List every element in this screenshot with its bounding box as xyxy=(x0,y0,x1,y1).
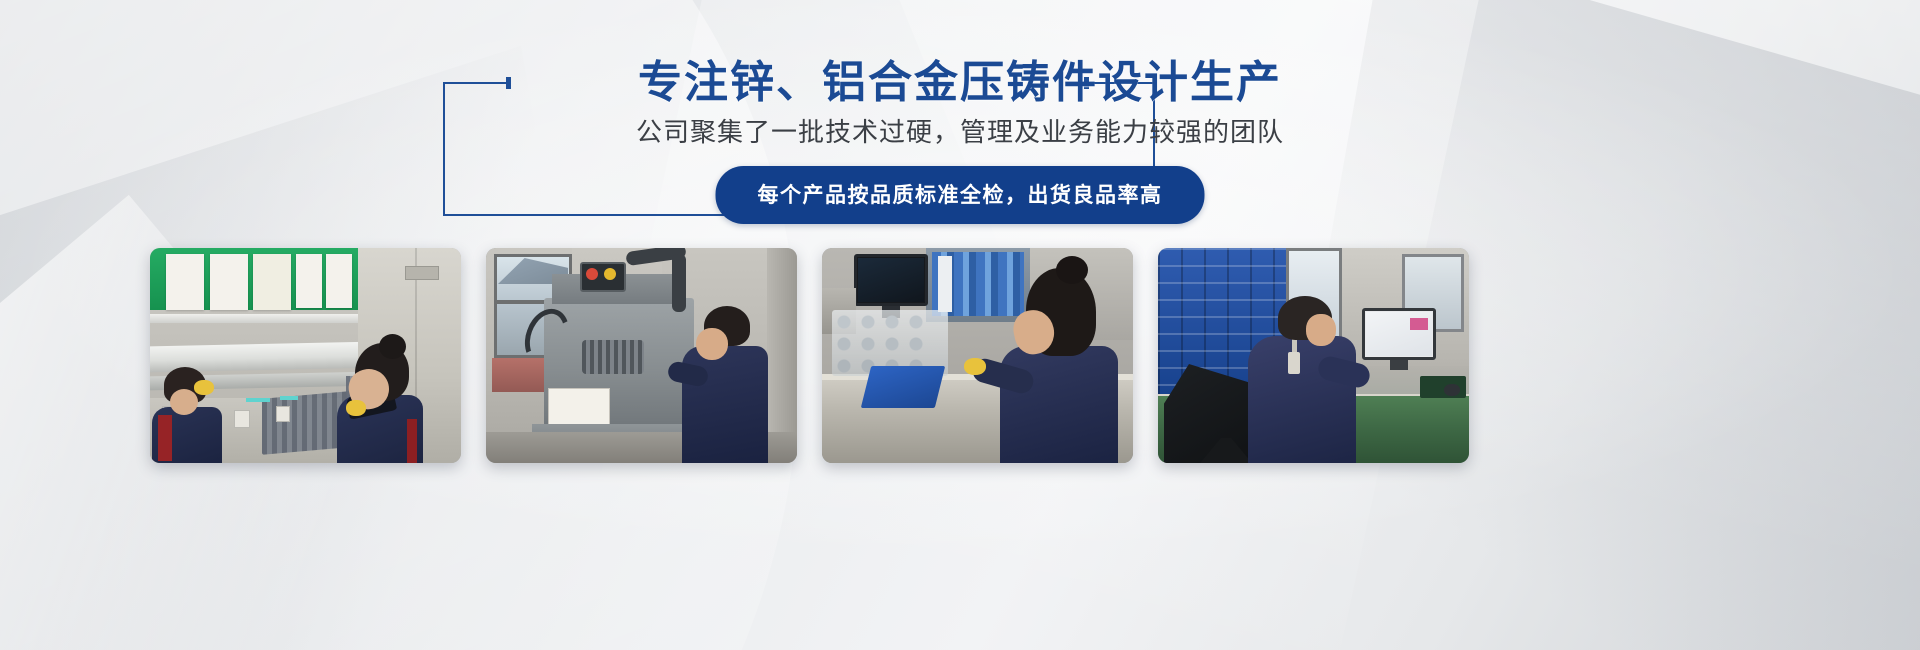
photo1-worker-left-face xyxy=(170,389,198,415)
photo2-operator-face xyxy=(696,328,728,360)
photo-office-workstation xyxy=(1158,248,1469,463)
photo3-monitor-screen xyxy=(858,258,924,302)
photo-inspection-bench xyxy=(150,248,461,463)
photo4-id-badge xyxy=(1288,352,1300,374)
photo-packing-desk xyxy=(822,248,1133,463)
company-banner: 专注锌、铝合金压铸件设计生产 公司聚集了一批技术过硬，管理及业务能力较强的团队 … xyxy=(0,0,1920,650)
photo1-shelf xyxy=(150,314,380,323)
photo2-panel-red-light xyxy=(586,268,598,280)
photo4-worker-torso xyxy=(1248,336,1356,463)
photo3-inspector xyxy=(998,268,1118,463)
photo2-robot-arm-vertical xyxy=(672,254,686,312)
photo4-mouse xyxy=(1444,384,1460,396)
photo3-inspector-torso xyxy=(1000,346,1118,463)
photo2-machine-coil xyxy=(582,340,644,374)
photo1-document xyxy=(210,254,248,310)
photo3-blue-folder xyxy=(861,366,945,408)
photo1-wall-socket xyxy=(276,406,290,422)
photo1-tape-marker xyxy=(280,396,298,400)
photo2-panel-amber-light xyxy=(604,268,616,280)
photo2-operator xyxy=(682,306,768,463)
photo1-worker-left-sleeve xyxy=(158,415,172,461)
headline-block: 专注锌、铝合金压铸件设计生产 公司聚集了一批技术过硬，管理及业务能力较强的团队 … xyxy=(0,56,1920,216)
photo3-binder-white xyxy=(938,256,952,312)
photo-die-casting-machine xyxy=(486,248,797,463)
photo4-monitor-stand xyxy=(1390,360,1408,370)
photo1-vent xyxy=(405,266,439,280)
photo1-document xyxy=(296,254,322,308)
photo3-yellow-glove xyxy=(964,358,986,375)
photo3-inspector-bun xyxy=(1056,256,1088,284)
photo4-office-worker xyxy=(1244,296,1356,463)
photo4-screen-highlight xyxy=(1410,318,1428,330)
photo1-tape-marker xyxy=(246,398,270,402)
photo1-yellow-glove xyxy=(194,380,214,395)
photo1-document xyxy=(326,254,352,308)
photo1-yellow-glove xyxy=(346,400,366,416)
page-subtitle: 公司聚集了一批技术过硬，管理及业务能力较强的团队 xyxy=(0,114,1920,150)
photo2-operator-torso xyxy=(682,346,768,463)
photo2-column xyxy=(767,248,797,463)
photo1-document xyxy=(253,254,291,310)
photo1-document xyxy=(166,254,204,310)
photo-strip xyxy=(150,248,1770,463)
page-title: 专注锌、铝合金压铸件设计生产 xyxy=(0,56,1920,110)
photo4-worker-face xyxy=(1306,314,1336,346)
photo1-worker-right-bun xyxy=(379,334,406,359)
photo1-wall-socket xyxy=(234,410,250,428)
photo1-worker-right-stripe xyxy=(407,419,417,463)
status-badge: 每个产品按品质标准全检，出货良品率高 xyxy=(716,166,1205,224)
